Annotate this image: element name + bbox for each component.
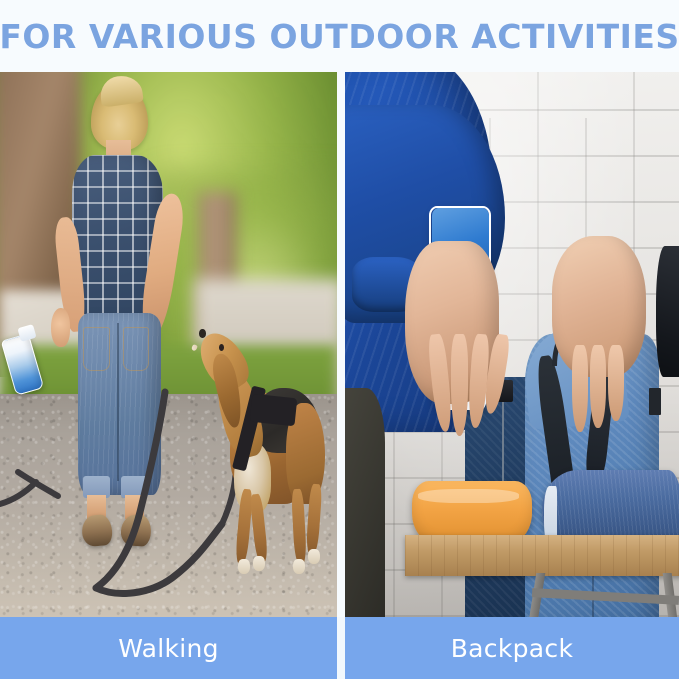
caption-walking: Walking [0, 617, 337, 679]
headline-bar: FOR VARIOUS OUTDOOR ACTIVITIES [0, 0, 679, 72]
bench-wood-grain [405, 535, 679, 576]
product-feature-poster: FOR VARIOUS OUTDOOR ACTIVITIES [0, 0, 679, 679]
dog-harness-strap-horizontal [250, 394, 297, 426]
dark-trousers [345, 388, 385, 617]
dog-paw [253, 556, 265, 571]
caption-backpack: Backpack [345, 617, 679, 679]
caption-walking-label: Walking [118, 634, 219, 663]
dog-nose [199, 329, 206, 338]
caption-divider [337, 617, 345, 679]
dog-paw [238, 559, 250, 574]
dog-paw [293, 559, 305, 574]
beagle-dog [199, 328, 330, 579]
backpack-tag [649, 388, 661, 415]
panel-backpack-image [345, 72, 679, 617]
right-hand-fingers [572, 345, 639, 432]
panel-row [0, 72, 679, 617]
finger [572, 345, 588, 432]
finger [608, 345, 624, 422]
finger [451, 334, 468, 436]
walking-scene [0, 72, 337, 617]
orange-bottle-highlight [418, 489, 518, 503]
backpack-scene [345, 72, 679, 617]
dog-paw [308, 549, 320, 564]
caption-backpack-label: Backpack [451, 634, 574, 663]
panel-divider [337, 72, 345, 617]
panel-walking-image [0, 72, 337, 617]
caption-row: Walking Backpack [0, 617, 679, 679]
left-hand-fingers [432, 334, 505, 432]
dark-object-edge [656, 246, 679, 377]
page-title: FOR VARIOUS OUTDOOR ACTIVITIES [0, 17, 679, 56]
finger [590, 345, 606, 429]
